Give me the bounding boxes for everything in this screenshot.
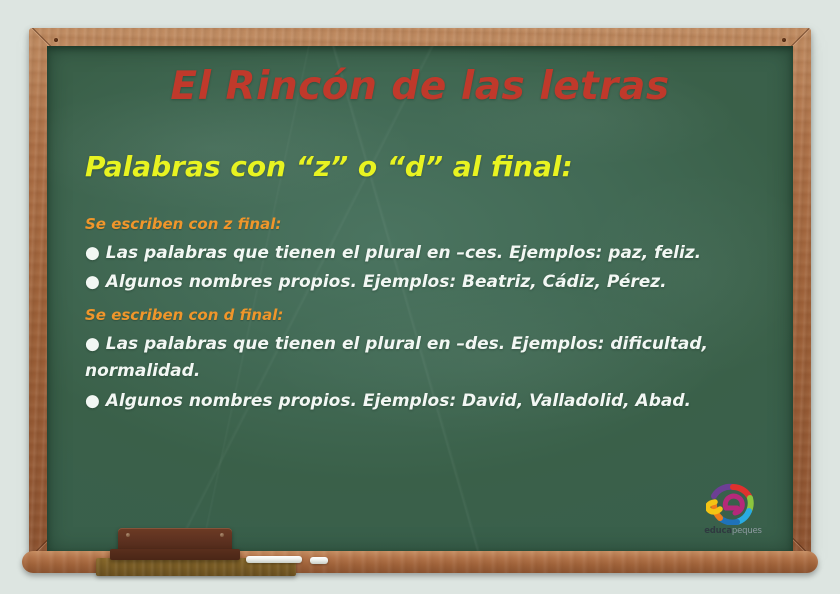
board-content: El Rincón de las letras Palabras con “z”…: [47, 46, 793, 553]
list-item: ● Algunos nombres propios. Ejemplos: Bea…: [85, 269, 757, 297]
logo-word-peques: peques: [732, 526, 762, 536]
logo-wordmark: educapeques: [691, 526, 775, 536]
board-eraser-screw-left: [126, 533, 130, 537]
chalk-stick[interactable]: [310, 557, 328, 564]
educapeques-logo[interactable]: educapeques: [691, 483, 775, 545]
lesson-subtitle: Palabras con “z” o “d” al final:: [85, 150, 573, 183]
educapeques-swirl-icon: [706, 483, 760, 525]
chalk-stick[interactable]: [246, 556, 302, 563]
frame-nail-top-left: [54, 38, 58, 42]
list-item: ● Las palabras que tienen el plural en –…: [85, 240, 757, 268]
lesson-body: Se escriben con z final: ● Las palabras …: [85, 214, 757, 417]
board-eraser-screw-right: [220, 533, 224, 537]
logo-word-educa: educa: [704, 526, 732, 536]
board-eraser[interactable]: [110, 528, 240, 560]
list-item: ● Algunos nombres propios. Ejemplos: Dav…: [85, 388, 757, 416]
board-eraser-felt: [110, 549, 240, 560]
chalkboard-poster: El Rincón de las letras Palabras con “z”…: [0, 0, 840, 594]
list-item: ● Las palabras que tienen el plural en –…: [85, 331, 757, 386]
chalkboard-surface: El Rincón de las letras Palabras con “z”…: [47, 46, 793, 553]
frame-nail-top-right: [782, 38, 786, 42]
page-title: El Rincón de las letras: [47, 64, 793, 109]
section-heading-z: Se escriben con z final:: [85, 214, 757, 236]
section-heading-d: Se escriben con d final:: [85, 305, 757, 327]
